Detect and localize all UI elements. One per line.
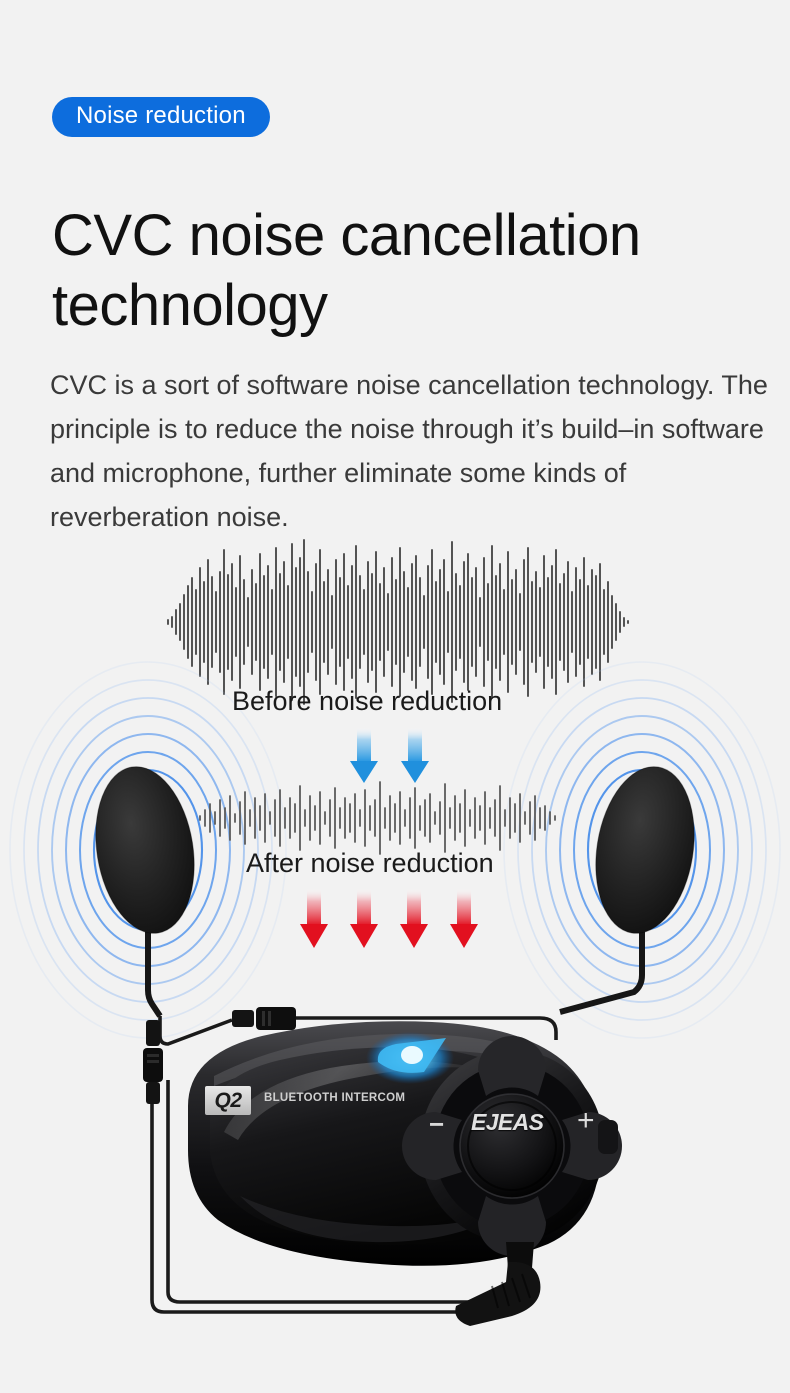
intercom-device [188, 1021, 622, 1326]
page-title: CVC noise cancellation technology [52, 201, 752, 341]
device-type-label: BLUETOOTH INTERCOM [264, 1092, 405, 1104]
after-label: After noise reduction [246, 848, 494, 879]
before-label: Before noise reduction [232, 686, 502, 717]
cable-connector-top [232, 1007, 296, 1030]
brand-logo: EJEAS [471, 1109, 543, 1136]
speaker-right [584, 760, 705, 941]
section-badge: Noise reduction [52, 97, 270, 137]
red-arrow-4 [450, 888, 478, 948]
red-arrow-2 [350, 888, 378, 948]
blue-arrows [350, 727, 429, 783]
blue-arrow-2 [401, 727, 429, 783]
red-arrow-3 [400, 888, 428, 948]
waveform-after [200, 782, 555, 854]
blue-arrow-1 [350, 727, 378, 783]
volume-up-button[interactable]: + [577, 1106, 595, 1136]
noise-reduction-diagram [0, 520, 790, 1393]
volume-down-button[interactable]: − [429, 1111, 444, 1137]
device-model-badge: Q2 [205, 1086, 251, 1115]
waveform-before [168, 540, 628, 704]
led-indicator [366, 1032, 454, 1084]
speaker-cable-left [148, 932, 160, 1016]
description-paragraph: CVC is a sort of software noise cancella… [50, 363, 780, 539]
red-arrows [300, 888, 478, 948]
red-arrow-1 [300, 888, 328, 948]
cable-connector-left [143, 1020, 163, 1104]
infographic-page: Noise reduction CVC noise cancellation t… [0, 0, 790, 1393]
speaker-left [84, 760, 205, 941]
